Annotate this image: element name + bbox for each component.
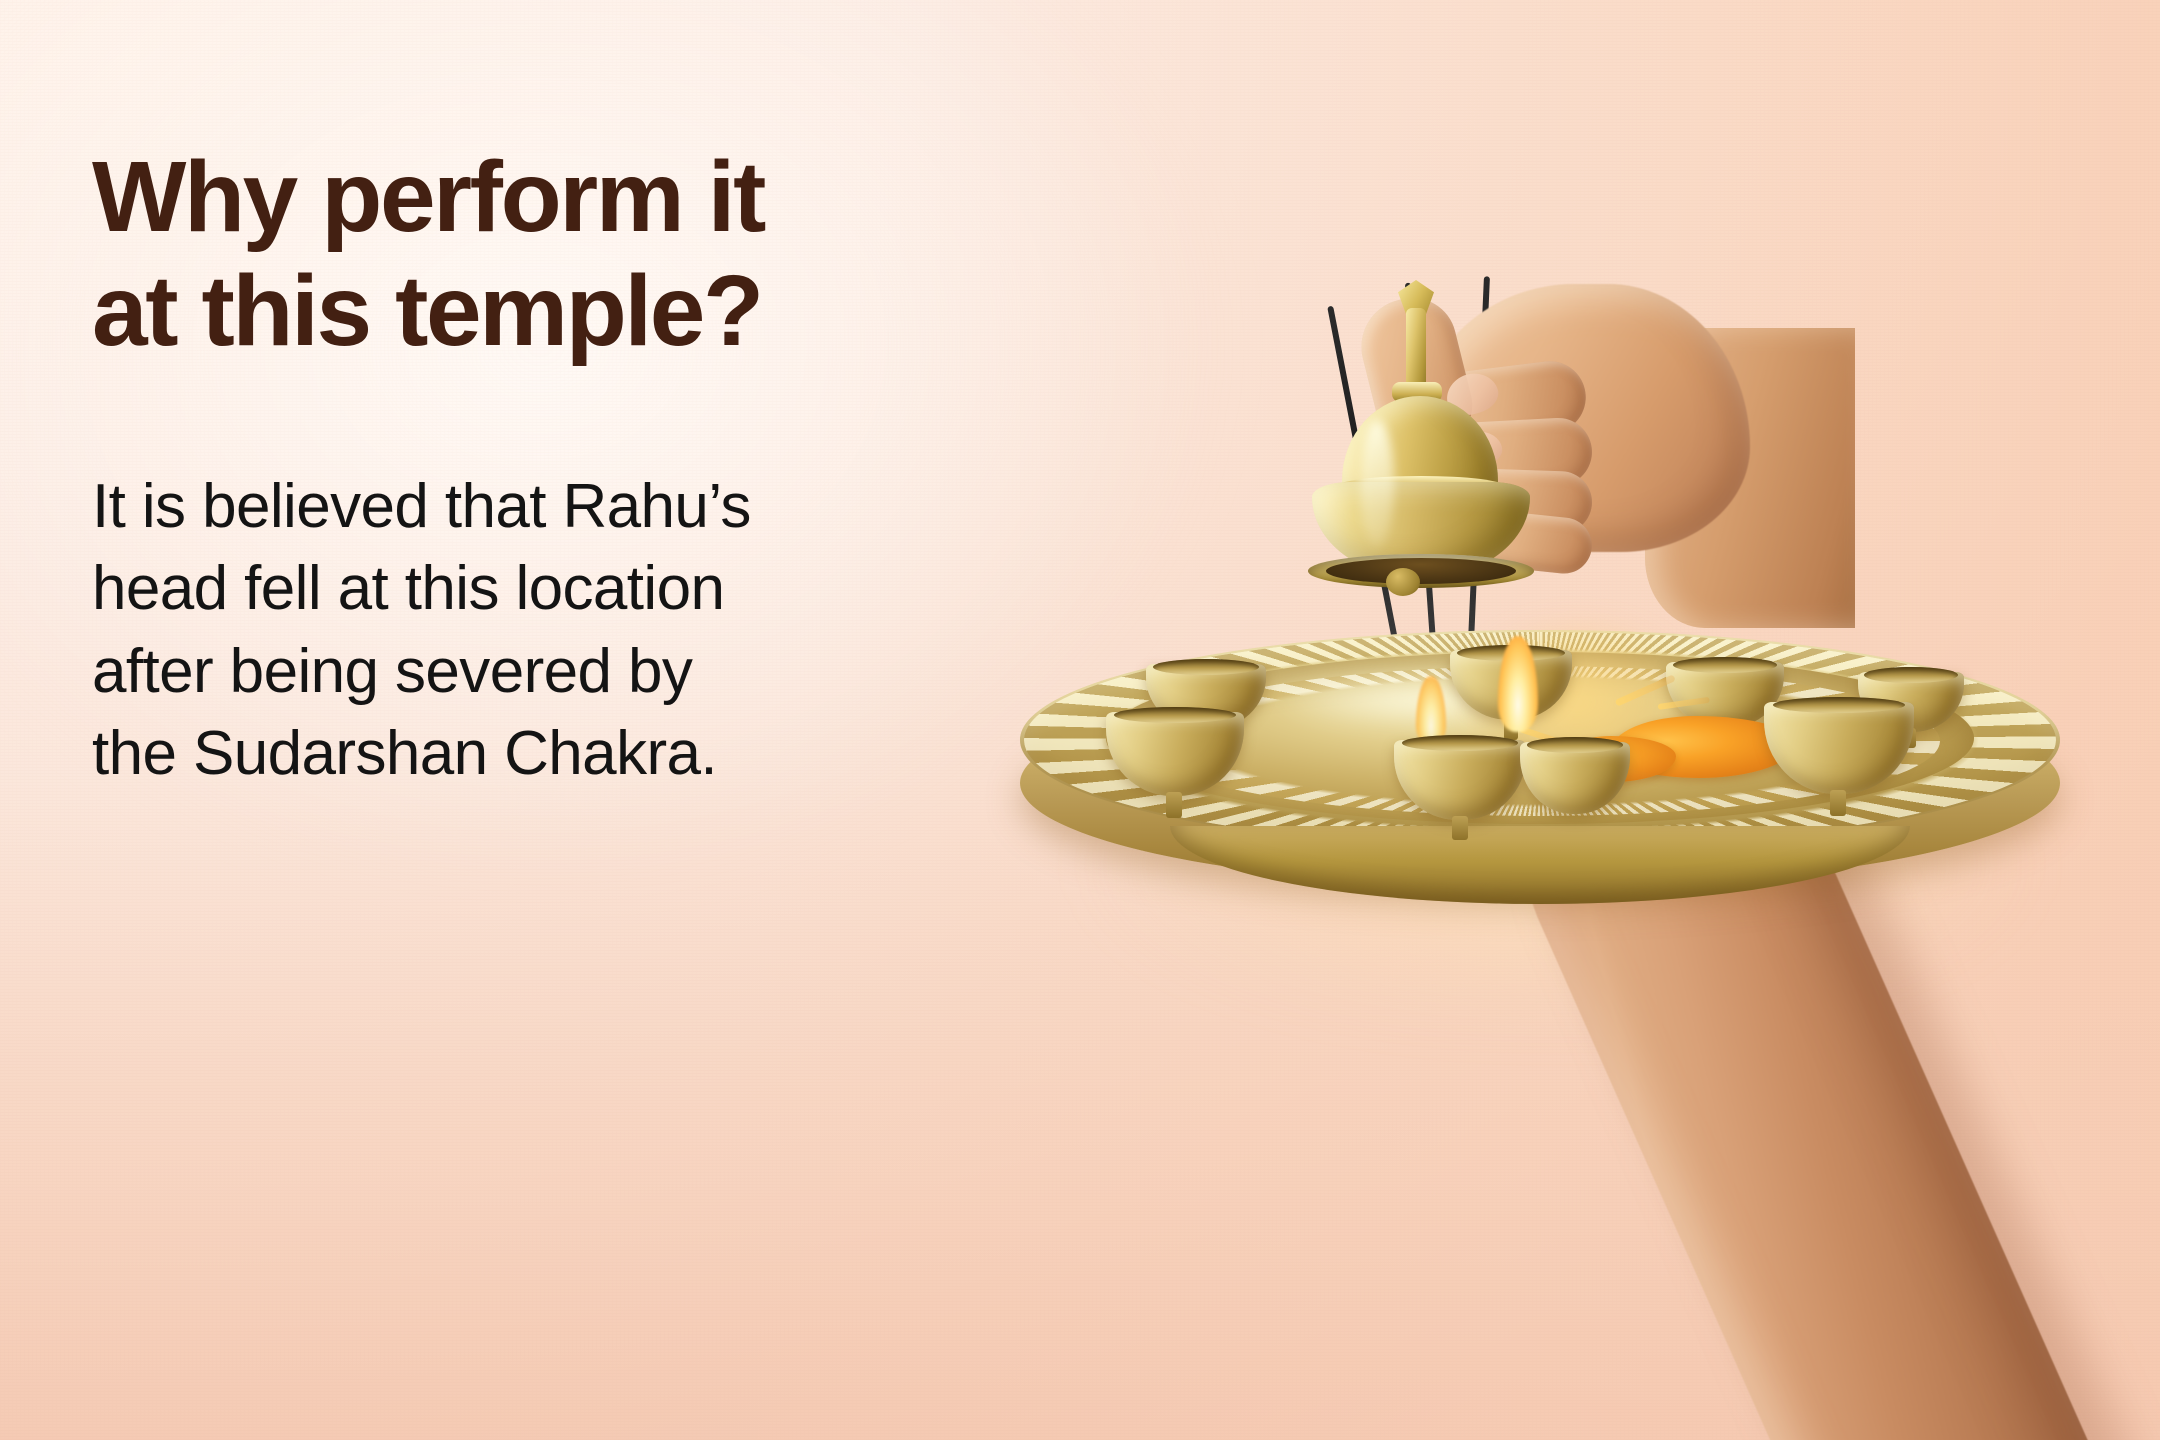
- diya-stem: [1452, 816, 1468, 840]
- bell-highlight: [1360, 420, 1394, 548]
- text-column: Why perform it at this temple? It is bel…: [92, 140, 1012, 796]
- bell-clapper: [1386, 568, 1420, 596]
- thali-foot: [1170, 826, 1910, 904]
- diya-stem: [1830, 790, 1846, 816]
- diya-stem: [1166, 792, 1182, 818]
- bell-and-hand: [1250, 270, 1810, 650]
- bell-mouth: [1326, 558, 1516, 584]
- body-paragraph: It is believed that Rahu’s head fell at …: [92, 368, 1012, 796]
- page-title: Why perform it at this temple?: [92, 140, 1012, 368]
- bell-handle-stem: [1406, 308, 1426, 392]
- slide-canvas: Why perform it at this temple? It is bel…: [0, 0, 2160, 1440]
- photo-subject: [1020, 0, 2160, 1440]
